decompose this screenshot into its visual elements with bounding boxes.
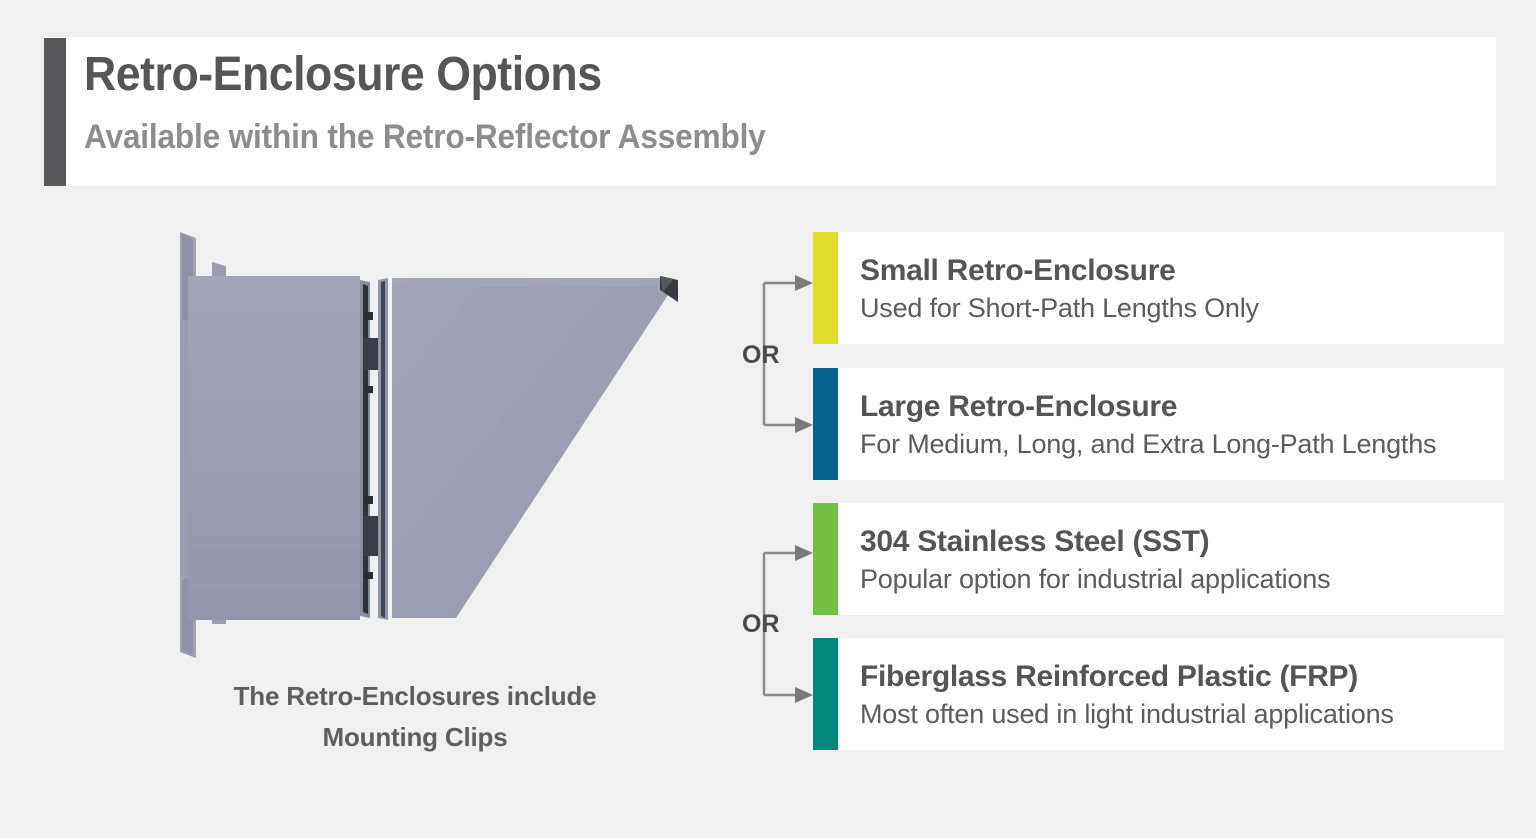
- page-subtitle: Available within the Retro-Reflector Ass…: [84, 117, 766, 157]
- option-title-1: Large Retro-Enclosure: [860, 388, 1504, 425]
- option-card-large-retro-enclosure[interactable]: Large Retro-Enclosure For Medium, Long, …: [813, 368, 1504, 480]
- enclosure-body: [188, 276, 360, 620]
- or-label-1: OR: [742, 341, 780, 370]
- option-title-3: Fiberglass Reinforced Plastic (FRP): [860, 658, 1504, 695]
- option-description-0: Used for Short-Path Lengths Only: [860, 291, 1504, 325]
- hinge-detail-2: [364, 338, 378, 370]
- product-caption: The Retro-Enclosures include Mounting Cl…: [145, 676, 685, 758]
- accent-bar-2: [813, 503, 838, 615]
- retro-enclosure-illustration: [160, 220, 700, 670]
- enclosure-shroud: [392, 278, 670, 618]
- option-description-2: Popular option for industrial applicatio…: [860, 562, 1504, 596]
- option-card-fiberglass-reinforced-plastic[interactable]: Fiberglass Reinforced Plastic (FRP) Most…: [813, 638, 1504, 750]
- accent-bar-1: [813, 368, 838, 480]
- option-description-1: For Medium, Long, and Extra Long-Path Le…: [860, 427, 1504, 461]
- option-card-304-stainless-steel[interactable]: 304 Stainless Steel (SST) Popular option…: [813, 503, 1504, 615]
- hinge-detail-6: [364, 572, 373, 579]
- caption-line-1: The Retro-Enclosures include: [145, 676, 685, 717]
- card-body-0: Small Retro-Enclosure Used for Short-Pat…: [838, 232, 1504, 344]
- option-title-0: Small Retro-Enclosure: [860, 252, 1504, 289]
- option-title-2: 304 Stainless Steel (SST): [860, 523, 1504, 560]
- hinge-detail-1: [364, 312, 373, 320]
- accent-bar-0: [813, 232, 838, 344]
- option-description-3: Most often used in light industrial appl…: [860, 697, 1504, 731]
- card-body-2: 304 Stainless Steel (SST) Popular option…: [838, 503, 1504, 615]
- hinge-gap: [363, 284, 368, 614]
- clip-tab-top: [212, 262, 226, 276]
- card-body-1: Large Retro-Enclosure For Medium, Long, …: [838, 368, 1504, 480]
- arrow-head-down-2: [795, 687, 813, 703]
- product-render: [160, 220, 700, 670]
- arrow-head-down-1: [795, 417, 813, 433]
- header-accent-bar: [44, 38, 66, 186]
- card-body-3: Fiberglass Reinforced Plastic (FRP) Most…: [838, 638, 1504, 750]
- arrow-head-up-1: [795, 275, 813, 291]
- option-card-small-retro-enclosure[interactable]: Small Retro-Enclosure Used for Short-Pat…: [813, 232, 1504, 344]
- caption-line-2: Mounting Clips: [145, 717, 685, 758]
- or-label-2: OR: [742, 610, 780, 639]
- accent-bar-3: [813, 638, 838, 750]
- hinge-detail-5: [364, 516, 378, 556]
- infographic-root: Retro-Enclosure Options Available within…: [0, 0, 1536, 838]
- arrow-head-up-2: [795, 545, 813, 561]
- hinge-detail-4: [364, 496, 373, 504]
- hinge-detail-3: [364, 386, 373, 393]
- page-title: Retro-Enclosure Options: [84, 47, 602, 103]
